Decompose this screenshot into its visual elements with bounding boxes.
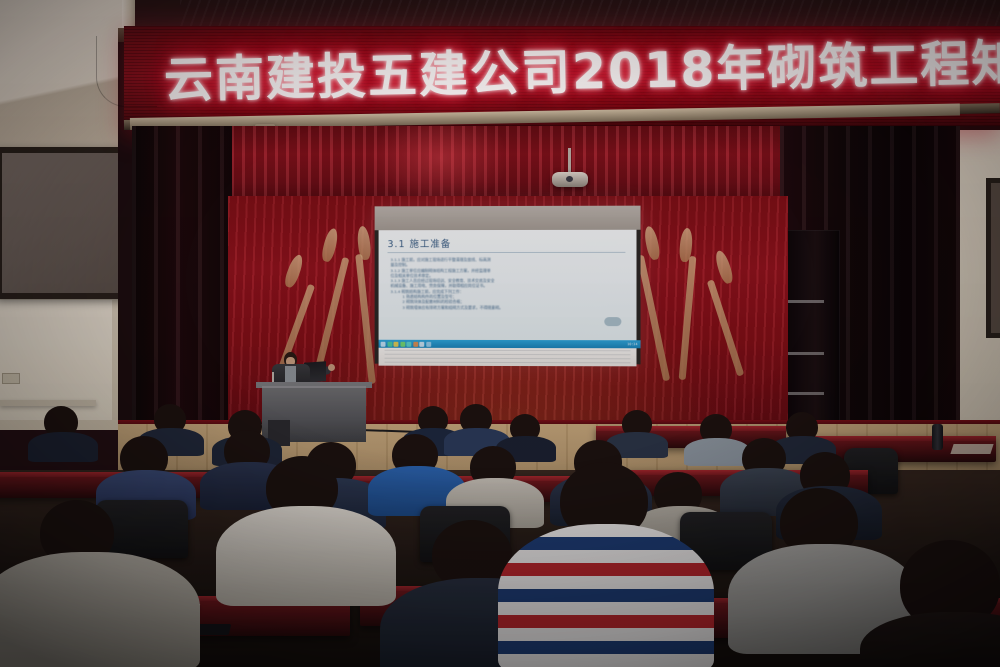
attendee-shoulders [684,438,750,466]
desk-surface [806,436,996,441]
bulletin-board-right [986,178,1000,338]
taskbar-clock: 10:24 [627,342,637,346]
attendee-shoulders [216,506,396,606]
screen-top-band [375,206,641,231]
projection-screen: 3.1 施工准备 3.1.1 施工前，应对施工现场进行平整清理及放线、标高测 量… [375,206,641,365]
training-session-photo: 云南建投五建公司2018年砌筑工程知识培训 [0,0,1000,667]
curtain-folds [132,126,232,436]
taskbar-app-icon[interactable] [426,341,431,346]
slide-pointer-highlight [604,317,621,326]
taskbar-app-icon[interactable] [413,341,418,346]
papers-on-desk [950,444,993,454]
led-banner-text: 云南建投五建公司2018年砌筑工程知识培训 [163,26,964,112]
slide-title-rule [388,252,626,253]
curtain-highlight [370,126,510,206]
taskbar-app-icon[interactable] [400,341,405,346]
ceiling-wire [96,36,157,107]
projector-mount-pole [568,148,571,174]
speaker-grille-line [788,352,824,355]
speaker-grille-line [788,300,824,303]
presentation-slide: 3.1 施工准备 3.1.1 施工前，应对施工现场进行平整清理及放线、标高测 量… [379,230,637,340]
slide-lower-rows [385,350,631,365]
attendee-shoulders [0,552,200,667]
left-stage-curtain [132,126,232,436]
slide-lower-pane [379,348,637,367]
slide-subline: 3 砌筑墙体应有排砖方案和组砌方式及要求，不得随意砌。 [390,305,610,310]
speaker-grille-line [788,392,824,395]
projector-lens-icon [566,176,573,182]
taskbar-app-icon[interactable] [387,341,392,346]
attendee-shoulders [28,432,98,462]
slide-title: 3.1 施工准备 [388,236,452,250]
thermos-bottle [932,424,943,450]
taskbar-app-icon[interactable] [393,341,398,346]
striped-shirt [498,524,714,667]
mobile-phone [195,624,232,635]
speaker-stack [786,230,840,432]
slide-body-text: 3.1.1 施工前，应对施工现场进行平整清理及放线、标高测 量及控制。 3.1.… [390,257,610,310]
attendee-striped-shirt [498,524,714,667]
wall-ledge [0,400,96,406]
taskbar-start-icon[interactable] [381,341,386,346]
taskbar-app-icon[interactable] [419,341,424,346]
wall-notice [2,373,20,384]
presenter-hand [328,364,335,371]
taskbar-app-icon[interactable] [406,341,411,346]
